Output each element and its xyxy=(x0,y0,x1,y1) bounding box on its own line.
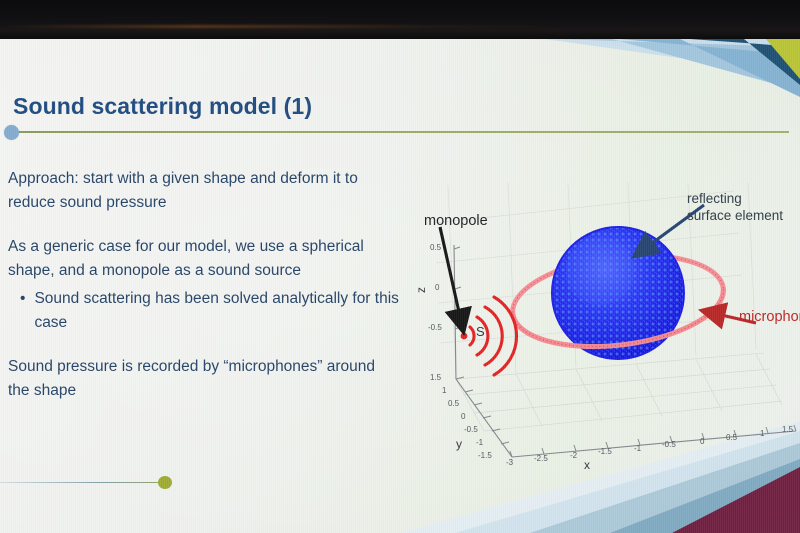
z-tick-2: -0.5 xyxy=(428,323,442,332)
screenshot-root: Sound scattering model (1) Approach: sta… xyxy=(0,0,800,533)
x-axis-label: x xyxy=(584,458,590,472)
y-axis-label: y xyxy=(456,437,462,451)
x-tick-4: -1 xyxy=(634,444,641,453)
y-tick-2: 0.5 xyxy=(448,399,459,408)
x-tick-5: -0.5 xyxy=(662,440,676,449)
monopole-source xyxy=(461,333,468,340)
y-tick-3: 0 xyxy=(461,412,465,421)
x-tick-6: 0 xyxy=(700,437,704,446)
deco-top-band-0 xyxy=(527,39,800,57)
z-axis-label: z xyxy=(414,287,428,293)
y-tick-4: -0.5 xyxy=(464,425,478,434)
x-tick-1: -2.5 xyxy=(534,454,548,463)
y-tick-5: -1 xyxy=(476,438,483,447)
bezel-glint xyxy=(0,25,560,28)
bullet-text: Sound scattering has been solved analyti… xyxy=(34,287,400,335)
x-tick-2: -2 xyxy=(570,451,577,460)
z-tick-1: 0 xyxy=(435,283,439,292)
microphones-label: microphones xyxy=(739,309,800,325)
projector-dark-band xyxy=(0,0,800,39)
y-tick-0: 1.5 xyxy=(430,373,441,382)
bullet-item: • Sound scattering has been solved analy… xyxy=(20,287,400,335)
deco-top-band-3 xyxy=(620,39,800,97)
reflecting-surface-label-line2: surface element xyxy=(687,207,783,224)
monopole-arrow xyxy=(440,227,463,330)
y-tick-6: -1.5 xyxy=(478,451,492,460)
deco-top-band-navy xyxy=(690,39,800,85)
bullet-marker: • xyxy=(20,287,25,335)
deco-top-band-1 xyxy=(545,39,800,75)
source-marker-label: S xyxy=(476,324,485,339)
x-tick-7: 0.5 xyxy=(726,433,737,442)
x-tick-0: -3 xyxy=(506,458,513,467)
monopole-label: monopole xyxy=(424,213,488,229)
title-divider-dot xyxy=(4,125,19,140)
y-tick-1: 1 xyxy=(442,386,446,395)
x-tick-8: 1 xyxy=(760,429,764,438)
footer-divider-dot xyxy=(158,476,172,489)
title-divider xyxy=(14,131,789,133)
presentation-slide: Sound scattering model (1) Approach: sta… xyxy=(0,39,800,533)
x-tick-3: -1.5 xyxy=(598,447,612,456)
body-closing-paragraph: Sound pressure is recorded by “microphon… xyxy=(8,355,400,403)
scattering-figure: monopole reflecting surface element micr… xyxy=(404,183,800,483)
axis-x xyxy=(510,425,796,457)
scattering-sphere xyxy=(552,227,684,359)
body-paragraph-2: As a generic case for our model, we use … xyxy=(8,235,400,283)
slide-title: Sound scattering model (1) xyxy=(13,93,312,120)
slide-body: Approach: start with a given shape and d… xyxy=(8,167,400,423)
footer-divider xyxy=(0,482,168,483)
x-tick-9: 1.5 xyxy=(782,425,793,434)
reflecting-surface-label-line1: reflecting xyxy=(687,190,783,207)
body-paragraph-1: Approach: start with a given shape and d… xyxy=(8,167,400,215)
deco-top-band-yellow xyxy=(766,39,800,79)
z-tick-0: 0.5 xyxy=(430,243,441,252)
reflecting-surface-label: reflecting surface element xyxy=(687,190,783,224)
deco-top-band-2 xyxy=(556,39,800,91)
